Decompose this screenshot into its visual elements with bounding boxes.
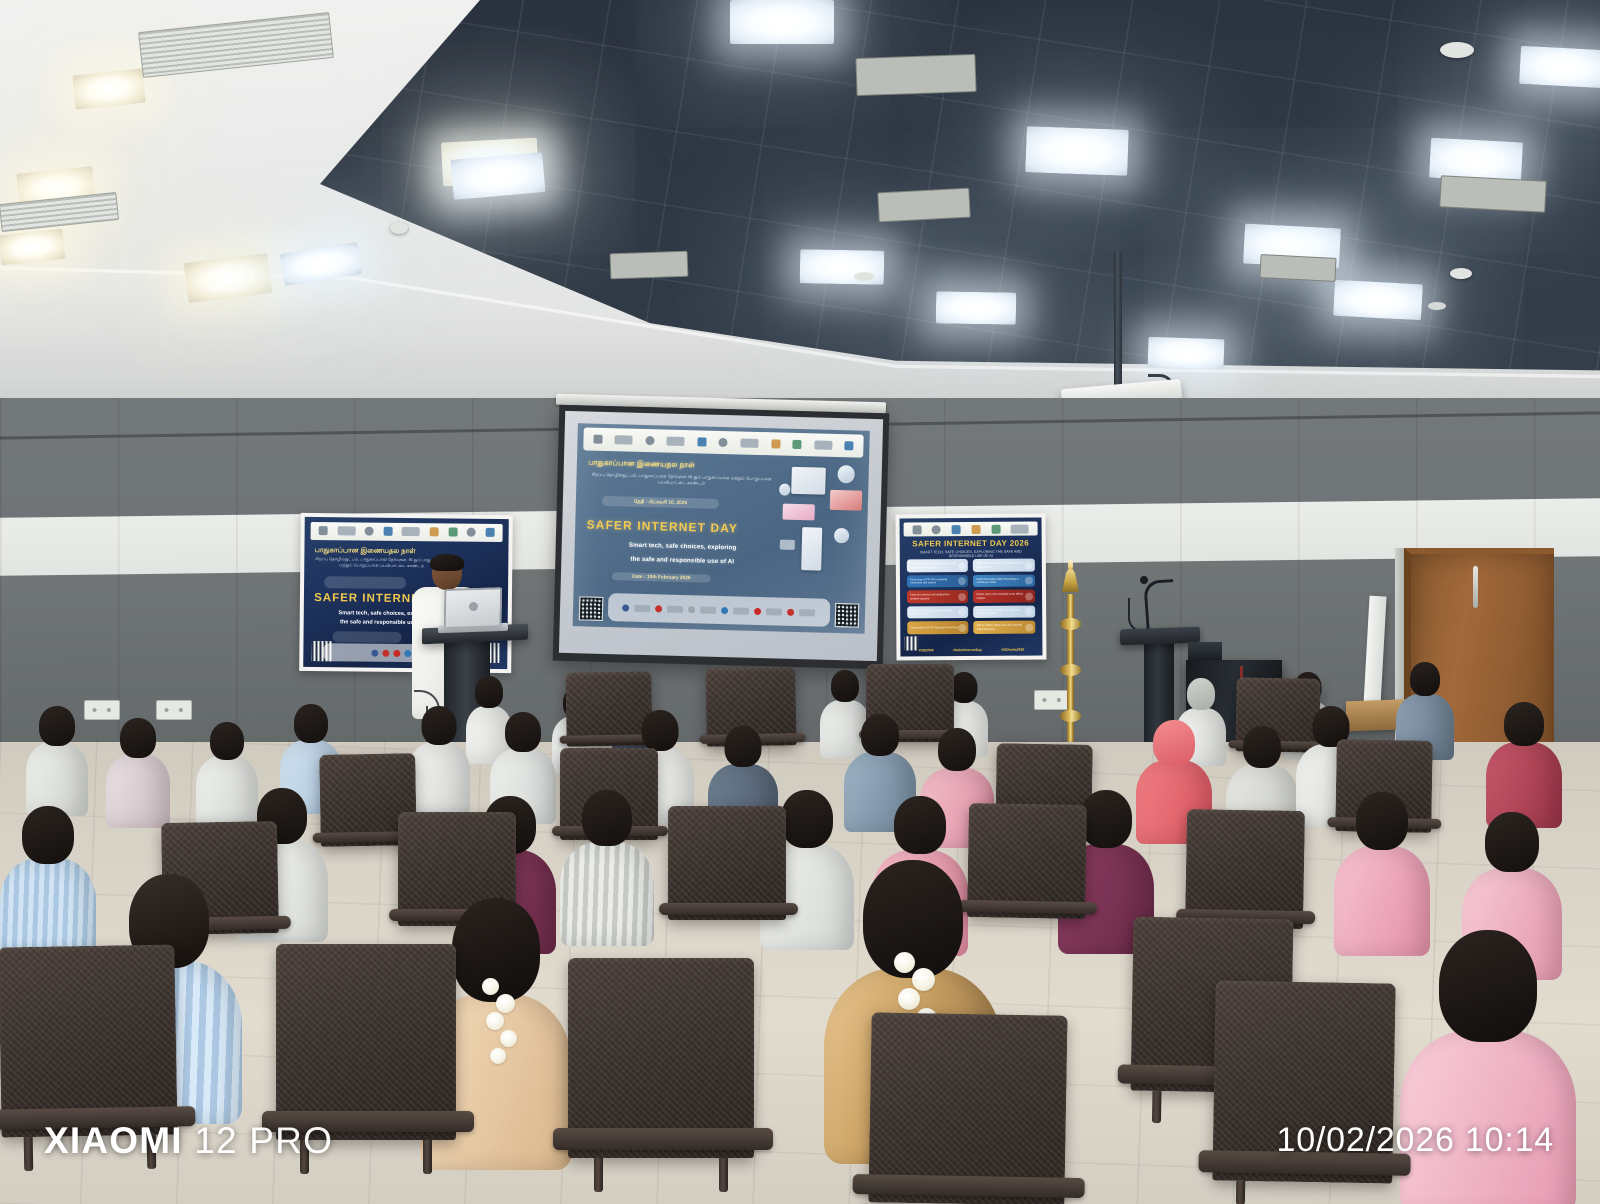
ac-diffuser-vent — [1259, 254, 1336, 282]
tip-row: Avoid public Wi-Fi for financial transac… — [907, 621, 968, 634]
lamp-knob — [1060, 664, 1081, 676]
hashtag: #SIDIndia2026 — [1001, 648, 1024, 652]
org-logo-icon — [402, 527, 420, 536]
av-control-unit[interactable] — [1188, 642, 1222, 660]
slide-tamil-date-chip: தேதி : பிப்ரவரி 10, 2026 — [602, 496, 719, 509]
ceiling-light-panel — [730, 0, 834, 44]
audience-person — [560, 790, 654, 940]
twitter-handle-label — [667, 605, 683, 612]
youtube-handle-label — [766, 608, 782, 615]
audience-person — [1486, 702, 1562, 820]
tip-row: Never share OTP, PIN or banking credenti… — [907, 575, 968, 588]
jasmine-flower-icon — [490, 1048, 506, 1064]
right-banner-tip-grid: Use strong unique passwords and enable t… — [907, 559, 1035, 634]
projection-screen: பாதுகாப்பான இணையதல நாள் சிறப்பு தொழில்நு… — [553, 405, 890, 670]
alert-graphic-icon — [830, 490, 863, 511]
nic-logo-icon — [383, 527, 392, 536]
audience-person — [1400, 930, 1576, 1204]
lamp-knob — [1060, 710, 1081, 722]
koo-icon[interactable] — [688, 606, 695, 613]
ac-diffuser-vent — [877, 188, 970, 223]
qr-code-right[interactable] — [835, 603, 860, 628]
door-handle[interactable] — [1473, 566, 1478, 608]
audience-person — [26, 706, 88, 810]
person-torso — [26, 742, 88, 816]
chair-leg — [719, 1158, 728, 1192]
ceiling-light-panel — [1025, 126, 1129, 176]
person-head — [39, 706, 75, 746]
org-logo-icon — [337, 526, 355, 535]
telegram-icon[interactable] — [787, 608, 794, 615]
instagram-icon[interactable] — [721, 607, 728, 614]
youtube-icon[interactable] — [394, 649, 401, 656]
lock-graphic-icon — [834, 528, 849, 543]
smoke-detector — [1440, 42, 1474, 58]
tip-row: Talk to children about safe and respectf… — [974, 621, 1035, 634]
org-logo-icon — [667, 436, 685, 445]
chat-graphic-icon — [782, 504, 815, 520]
phone-graphic-icon — [801, 527, 822, 570]
chair-leg — [1236, 1181, 1245, 1204]
person-head — [294, 704, 328, 743]
laptop-brand-logo-icon — [469, 602, 478, 611]
org-logo-icon — [932, 525, 941, 534]
chair[interactable] — [0, 944, 178, 1137]
ceiling-light-panel — [936, 291, 1017, 324]
jasmine-flower-icon — [912, 968, 935, 991]
ac-diffuser-vent — [1439, 175, 1547, 213]
person-head — [642, 710, 679, 751]
banner-logo-strip — [904, 522, 1038, 537]
auditorium-photograph: பாதுகாப்பான இணையதல நாள் சிறப்பு தொழில்நு… — [0, 0, 1600, 1204]
ceiling-speaker — [854, 272, 874, 281]
chair-leg — [594, 1158, 603, 1192]
person-head — [1439, 930, 1537, 1042]
jasmine-flower-icon — [482, 978, 499, 995]
smoke-detector — [1450, 268, 1472, 279]
ceiling-light-panel — [1333, 280, 1423, 321]
telegram-handle-label — [799, 609, 815, 616]
tip-row: Use AI tools responsibly and check the f… — [974, 605, 1035, 618]
person-head — [894, 796, 946, 854]
person-head — [951, 672, 978, 703]
koo-handle-label — [700, 606, 716, 613]
tip-text: Verify information before forwarding or … — [976, 578, 1024, 585]
chair[interactable] — [568, 958, 754, 1158]
smoke-detector — [390, 222, 408, 234]
person-head — [725, 726, 762, 767]
slide-illustration — [775, 461, 863, 589]
ceiling-light-panel — [1147, 337, 1224, 370]
nic-logo-icon — [697, 437, 706, 446]
camera-model-light: 12 PRO — [183, 1120, 333, 1161]
jasmine-flower-icon — [500, 1030, 517, 1047]
slide-english-subtitle-line1: Smart tech, safe choices, exploring — [586, 540, 779, 552]
tip-row: Keep your devices and applications updat… — [907, 590, 968, 603]
org-logo-icon — [719, 438, 728, 447]
cert-in-logo-icon — [486, 528, 495, 537]
slide-english-title: SAFER INTERNET DAY — [587, 517, 780, 536]
cert-in-logo-icon — [844, 441, 853, 450]
audience-person — [106, 718, 170, 822]
org-logo-icon — [467, 528, 476, 537]
slide-tamil-subtitle: சிறப்பு தொழில்நுட்பம், பாதுகாப்பான தேர்வ… — [588, 471, 775, 489]
person-head — [1410, 662, 1440, 696]
org-logo-icon — [912, 525, 921, 534]
hashtag: #SID2026 — [919, 648, 934, 652]
person-torso — [106, 754, 170, 828]
youtube-icon[interactable] — [754, 607, 761, 614]
person-torso — [408, 742, 470, 816]
ceiling-light-panel — [1519, 46, 1600, 88]
person-head — [1243, 726, 1281, 768]
tip-text: Never share OTP, PIN or banking credenti… — [910, 578, 958, 585]
person-head — [582, 790, 632, 846]
facebook-handle-label — [634, 604, 650, 611]
qr-code-left[interactable] — [578, 597, 603, 622]
wall-power-socket[interactable] — [84, 700, 120, 720]
hashtag: #SaferInternetDay — [953, 648, 982, 652]
org-logo-icon — [645, 436, 654, 445]
tip-text: Protect your privacy settings on social … — [910, 609, 958, 616]
ceiling-light-panel — [450, 152, 545, 200]
org-logo-icon — [814, 440, 832, 449]
chair[interactable] — [668, 806, 786, 920]
banner-tamil-title: பாதுகாப்பான இணையதல நாள் — [315, 546, 458, 556]
audience-person — [408, 706, 470, 810]
twitter-icon[interactable] — [383, 649, 390, 656]
ac-diffuser-vent — [855, 54, 976, 96]
chair-leg — [24, 1137, 34, 1171]
tip-row: Think before you click on unknown links … — [973, 559, 1034, 572]
slide-logo-strip — [583, 428, 864, 458]
tip-row: Report cyber crime incidents to the offi… — [974, 590, 1035, 603]
person-head — [422, 706, 457, 745]
tip-text: Use AI tools responsibly and check the f… — [977, 609, 1025, 616]
person-head — [475, 676, 503, 708]
slide-social-footer — [608, 593, 831, 627]
jasmine-flower-icon — [486, 1012, 504, 1030]
person-head — [210, 722, 244, 760]
timestamp-watermark: 10/02/2026 10:14 — [1277, 1121, 1555, 1160]
camera-watermark: XIAOMI 12 PRO — [44, 1120, 333, 1162]
tip-text: Keep your devices and applications updat… — [910, 593, 958, 600]
jasmine-flower-icon — [898, 988, 920, 1010]
chair[interactable] — [868, 1012, 1067, 1204]
tip-text: Talk to children about safe and respectf… — [977, 624, 1025, 631]
tip-row: Protect your privacy settings on social … — [907, 606, 968, 619]
microphone-cable — [1128, 598, 1154, 632]
person-torso-striped-shirt — [560, 842, 654, 946]
presenter-hair — [430, 554, 464, 571]
ceiling-speaker — [1428, 302, 1446, 310]
banner-qr-code[interactable] — [905, 637, 919, 651]
tip-text: Report cyber crime incidents to the offi… — [977, 593, 1025, 600]
org-logo-icon — [448, 527, 457, 536]
tip-text: Think before you click on unknown links … — [976, 562, 1024, 569]
chair-leg — [423, 1140, 432, 1174]
person-head-scarf — [1153, 720, 1195, 766]
nic-logo-icon — [952, 525, 961, 534]
tip-row: Verify information before forwarding or … — [973, 574, 1034, 587]
facebook-icon[interactable] — [372, 649, 379, 656]
person-head — [22, 806, 74, 864]
org-logo-icon — [1011, 524, 1029, 533]
org-logo-icon — [593, 434, 602, 443]
twitter-icon[interactable] — [655, 605, 662, 612]
banner-english-date-chip — [332, 631, 401, 642]
org-logo-icon — [740, 438, 758, 447]
presentation-slide: பாதுகாப்பான இணையதல நாள் சிறப்பு தொழில்நு… — [572, 423, 870, 634]
org-logo-icon — [771, 439, 780, 448]
screen-surface: பாதுகாப்பான இணையதல நாள் சிறப்பு தொழில்நு… — [559, 411, 883, 661]
monitor-graphic-icon — [791, 466, 826, 495]
slide-english-date-chip: Date : 10th February 2026 — [612, 573, 712, 584]
tip-text: Use strong unique passwords and enable t… — [910, 562, 958, 569]
chair-leg — [1152, 1091, 1162, 1123]
tip-row: Use strong unique passwords and enable t… — [907, 559, 968, 572]
org-logo-icon — [319, 526, 328, 535]
right-banner-artwork: SAFER INTERNET DAY 2026 SMART TECH, SAFE… — [900, 518, 1043, 657]
microphone-capsule — [1140, 576, 1148, 584]
org-logo-icon — [430, 527, 439, 536]
lamp-knob — [1060, 618, 1081, 630]
person-torso — [1400, 1030, 1576, 1204]
right-banner-subtitle: SMART TECH, SAFE CHOICES, EXPLORING THE … — [908, 549, 1033, 558]
chair[interactable] — [1185, 809, 1305, 929]
banner-tamil-date-chip — [324, 576, 406, 589]
slide-tamil-title: பாதுகாப்பான இணையதல நாள் — [588, 457, 781, 472]
instagram-handle-label — [733, 607, 749, 614]
person-head — [1080, 790, 1132, 848]
right-banner-hashtags: #SID2026 #SaferInternetDay #SIDIndia2026 — [909, 647, 1034, 652]
banner-logo-strip — [311, 521, 503, 541]
jasmine-flower-icon — [894, 952, 915, 973]
person-head-braided — [781, 790, 833, 848]
person-head — [938, 728, 976, 771]
camera-brand-bold: XIAOMI — [44, 1120, 183, 1161]
shield-graphic-icon — [780, 539, 796, 549]
person-head — [1356, 792, 1408, 850]
right-banner-title: SAFER INTERNET DAY 2026 — [911, 538, 1030, 548]
tip-text: Avoid public Wi-Fi for financial transac… — [910, 626, 958, 630]
ac-diffuser-vent — [610, 251, 689, 280]
org-logo-icon — [971, 524, 980, 533]
org-logo-icon — [615, 435, 633, 444]
projector-mount-pole — [1114, 252, 1122, 388]
lamp-finial-icon — [1068, 560, 1073, 570]
person-head-grey-hair — [1187, 678, 1215, 710]
person-head — [120, 718, 156, 758]
person-head — [831, 670, 859, 702]
org-logo-icon — [991, 524, 1000, 533]
audience-person — [0, 806, 96, 956]
user-graphic-icon — [779, 484, 790, 496]
person-head — [1504, 702, 1544, 746]
jasmine-flower-icon — [496, 994, 515, 1013]
org-logo-icon — [365, 527, 374, 536]
org-logo-icon — [792, 440, 801, 449]
person-head — [1485, 812, 1539, 872]
ceiling-light-panel — [72, 68, 145, 109]
facebook-icon[interactable] — [622, 604, 629, 611]
person-head — [505, 712, 541, 752]
cloud-graphic-icon — [837, 465, 854, 483]
person-head — [861, 714, 899, 756]
right-infographic-banner: SAFER INTERNET DAY 2026 SMART TECH, SAFE… — [895, 513, 1046, 660]
audience-person — [1334, 792, 1430, 948]
chair[interactable] — [276, 944, 456, 1140]
wall-power-socket[interactable] — [156, 700, 192, 720]
slide-english-subtitle-line2: the safe and responsible use of AI — [586, 555, 779, 567]
